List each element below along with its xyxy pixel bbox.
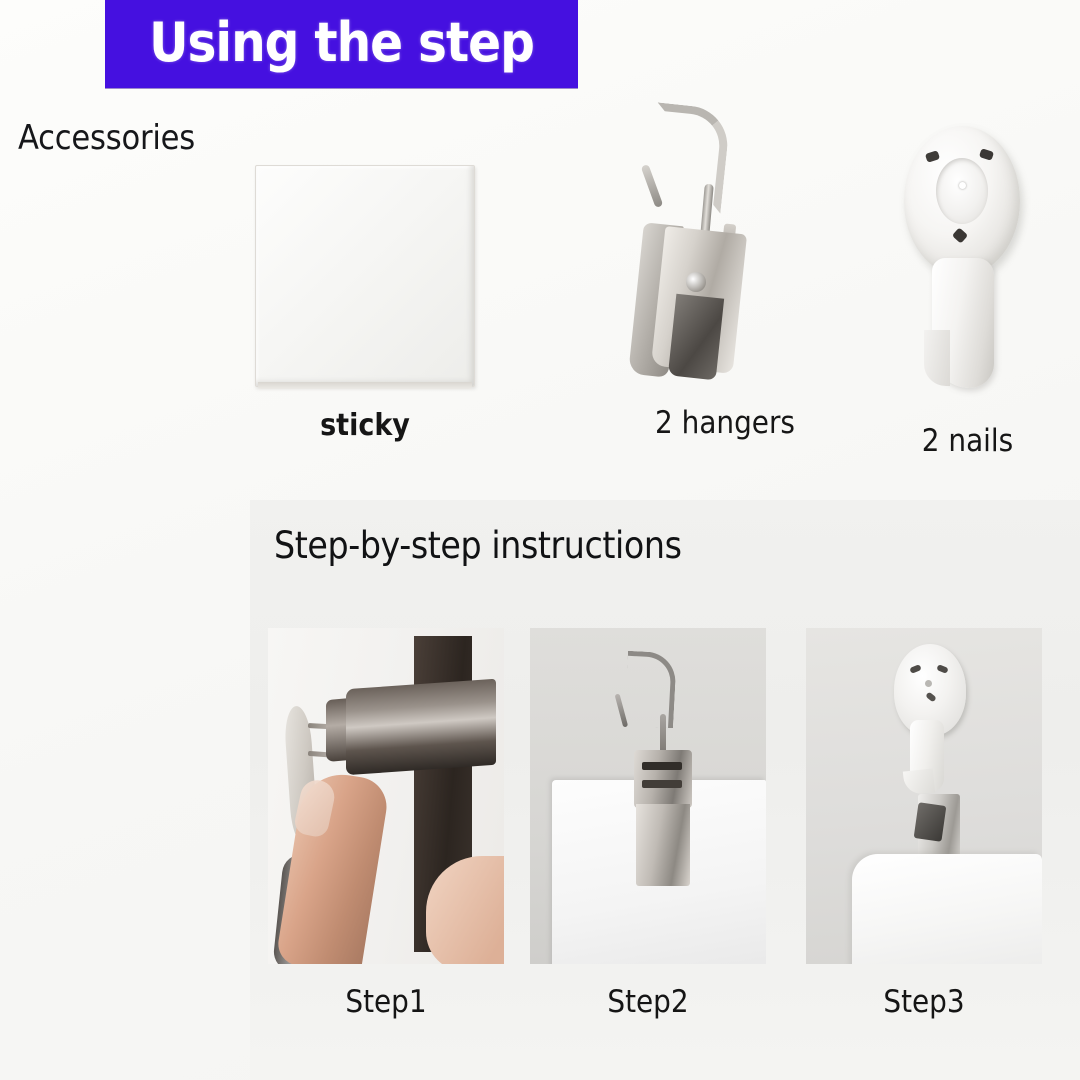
accessory-caption-sticky: sticky: [320, 408, 410, 443]
accessory-nail-hook: 2 nails: [860, 118, 1075, 478]
clip-gripping-sheet-photo: [530, 628, 766, 964]
accessory-hanger-clip: 2 hangers: [610, 100, 840, 470]
accessory-caption-nails: 2 nails: [922, 423, 1013, 459]
accessory-caption-hangers: 2 hangers: [655, 405, 795, 441]
steps-section-title: Step-by-step instructions: [274, 524, 682, 567]
step-item: Step1: [268, 628, 504, 964]
step-caption: Step1: [345, 984, 426, 1020]
steps-row: Step1 Step2: [250, 628, 1080, 968]
accessory-sticky-pad: sticky: [250, 160, 480, 460]
wall-hook-nail-icon: [860, 118, 1075, 408]
adhesive-pad-icon: [255, 165, 475, 387]
accessories-section-label: Accessories: [18, 118, 195, 158]
step-item: Step3: [806, 628, 1042, 964]
hook-with-clip-holding-sheet-photo: [806, 628, 1042, 964]
step-item: Step2: [530, 628, 766, 964]
step-caption: Step3: [883, 984, 964, 1020]
hook-clip-icon: [610, 100, 840, 390]
title-banner: Using the step: [105, 0, 578, 88]
hammering-nail-into-wall-photo: [268, 628, 504, 964]
steps-panel: Step-by-step instructions Step1: [250, 500, 1080, 1080]
page-title: Using the step: [105, 11, 578, 74]
product-instruction-page: Using the step Accessories sticky 2 hang…: [0, 0, 1080, 1080]
step-caption: Step2: [607, 984, 688, 1020]
